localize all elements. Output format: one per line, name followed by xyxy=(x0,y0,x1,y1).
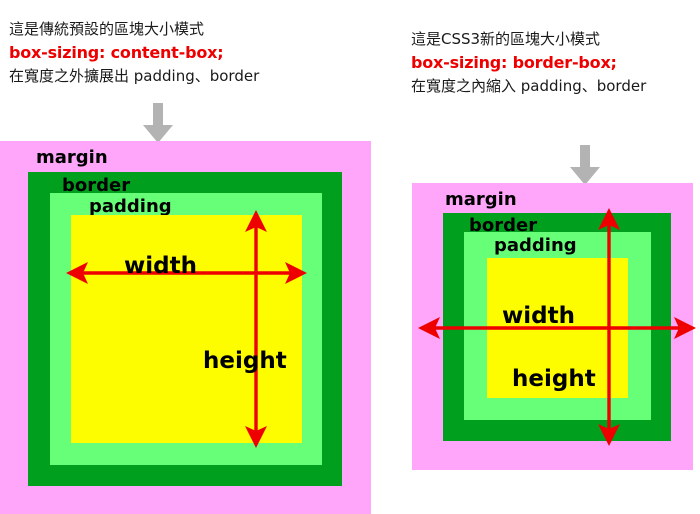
left-height-arrow xyxy=(239,210,273,448)
left-caption-code: box-sizing: content-box; xyxy=(9,41,259,65)
right-height-arrow xyxy=(592,208,626,446)
right-caption-code: box-sizing: border-box; xyxy=(411,51,646,75)
left-width-label: width xyxy=(124,255,197,278)
down-arrow-icon xyxy=(568,145,602,185)
left-caption-line-1: 這是傳統預設的區塊大小模式 xyxy=(9,18,259,41)
right-panel-caption: 這是CSS3新的區塊大小模式 box-sizing: border-box; 在… xyxy=(411,28,646,98)
left-caption-line-3: 在寬度之外擴展出 padding、border xyxy=(9,65,259,88)
left-panel-caption: 這是傳統預設的區塊大小模式 box-sizing: content-box; 在… xyxy=(9,18,259,88)
right-caption-line-3: 在寬度之內縮入 padding、border xyxy=(411,75,646,98)
left-padding-label: padding xyxy=(89,198,172,216)
left-height-label: height xyxy=(203,350,287,373)
right-width-label: width xyxy=(502,305,575,328)
left-margin-label: margin xyxy=(36,149,108,167)
right-height-label: height xyxy=(512,368,596,391)
right-margin-label: margin xyxy=(445,191,517,209)
right-padding-label: padding xyxy=(494,237,577,255)
down-arrow-icon xyxy=(141,103,175,143)
right-caption-line-1: 這是CSS3新的區塊大小模式 xyxy=(411,28,646,51)
